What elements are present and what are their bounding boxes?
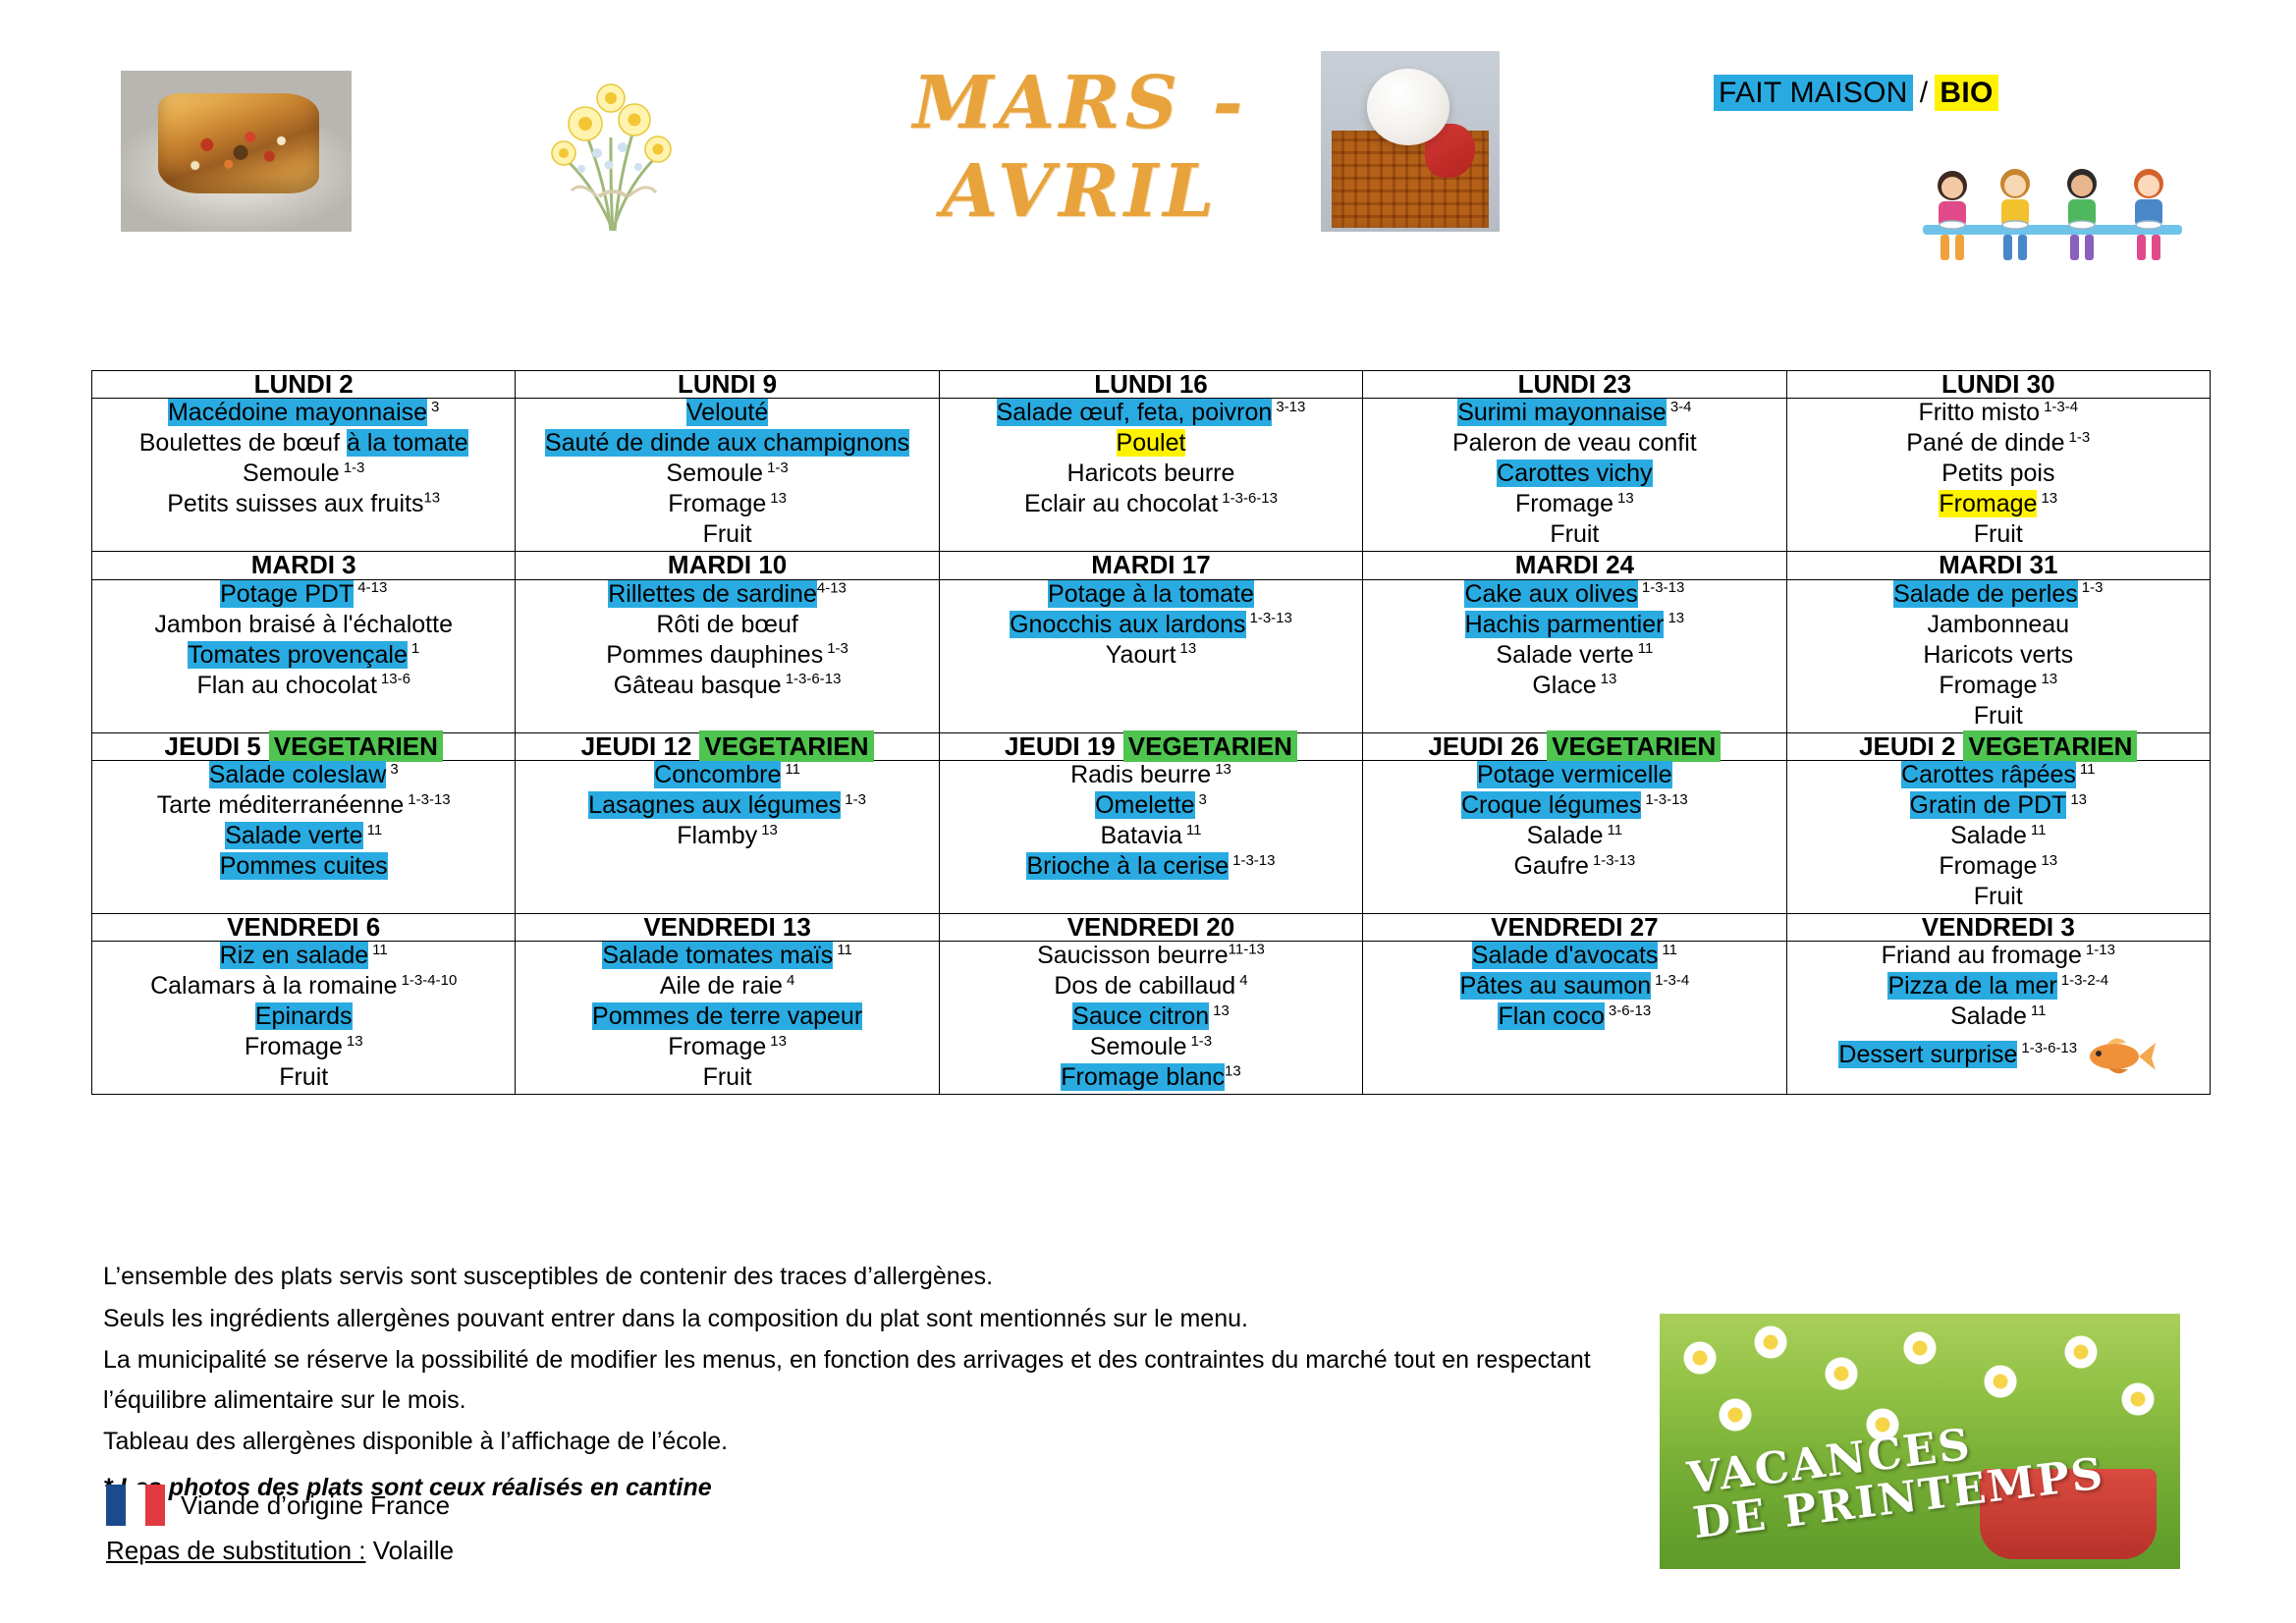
menu-dish: Aile de raie4: [516, 972, 938, 1002]
day-header-cell: LUNDI 23: [1363, 371, 1786, 399]
dish-name: Gâteau basque: [614, 672, 782, 699]
dish-name: Salade: [1950, 1002, 2027, 1030]
menu-dish: Fruit: [1787, 883, 2210, 913]
dish-name: Salade: [1527, 822, 1604, 849]
day-header-cell: MARDI 17: [939, 552, 1362, 579]
day-menu-cell: Salade d'avocats11Pâtes au saumon1-3-4Fl…: [1363, 942, 1786, 1095]
menu-dish: Rillettes de sardine4-13: [516, 580, 938, 611]
allergen-codes: 1-3-6-13: [2021, 1040, 2077, 1056]
dish-name: Saucisson beurre: [1037, 942, 1229, 969]
day-menu-cell: Cake aux olives1-3-13Hachis parmentier13…: [1363, 579, 1786, 732]
menu-dish: Semoule1-3: [92, 460, 515, 490]
menu-dish: Salade coleslaw3: [92, 761, 515, 791]
dish-name: Fromage: [668, 490, 766, 517]
day-header-cell: MARDI 31: [1786, 552, 2210, 579]
day-menu-cell: Riz en salade11Calamars à la romaine1-3-…: [92, 942, 516, 1095]
allergen-codes: 13: [2041, 490, 2057, 507]
day-menu-cell: Potage PDT4-13Jambon braisé à l'échalott…: [92, 579, 516, 732]
gaufre-photo: [1321, 51, 1500, 232]
allergen-codes: 13: [347, 1033, 363, 1050]
dish-name: Flan au chocolat: [196, 672, 376, 699]
legend-badges: FAIT MAISON/BIO: [1714, 77, 1998, 110]
menu-dish: Flan au chocolat13-6: [92, 672, 515, 702]
dish-name: Fromage: [245, 1033, 343, 1060]
allergen-codes: 1-3-13: [1250, 610, 1292, 626]
day-menu-cell: Salade de perles1-3JambonneauHaricots ve…: [1786, 579, 2210, 732]
allergen-codes: 1-3: [827, 640, 848, 657]
dish-name: Potage vermicelle: [1477, 761, 1672, 788]
dish-name: Epinards: [255, 1002, 353, 1030]
dish-name: Semoule: [1090, 1033, 1187, 1060]
menu-dish: Salade tomates maïs11: [516, 942, 938, 972]
menu-dish: Fruit: [1787, 702, 2210, 732]
menu-dish: Radis beurre13: [940, 761, 1362, 791]
dish-name: Pommes cuites: [220, 852, 388, 880]
dish-name: Fromage: [668, 1033, 766, 1060]
dish-name: Pommes dauphines: [606, 641, 823, 669]
day-menu-cell: Potage à la tomateGnocchis aux lardons1-…: [939, 579, 1362, 732]
dish-name: Petits pois: [1941, 460, 2054, 487]
allergen-codes: 13: [770, 490, 787, 507]
dish-name: Fromage: [1515, 490, 1613, 517]
day-header-cell: JEUDI 2VEGETARIEN: [1786, 732, 2210, 760]
allergen-codes: 11: [2031, 1002, 2047, 1019]
dish-name: Dessert surprise: [1838, 1041, 2017, 1068]
allergen-codes: 1-3: [2082, 579, 2104, 596]
day-header-cell: LUNDI 9: [516, 371, 939, 399]
daisy-icon: [2121, 1382, 2155, 1416]
menu-dish: Petits pois: [1787, 460, 2210, 490]
menu-dish: Sauce citron13: [940, 1002, 1362, 1033]
day-menu-cell: Potage vermicelleCroque légumes1-3-13Sal…: [1363, 760, 1786, 913]
dish-name: Pizza de la mer: [1887, 972, 2056, 1000]
allergen-codes: 1-3-13: [1645, 791, 1687, 808]
allergen-codes: 13: [761, 822, 778, 839]
day-label: VENDREDI 20: [1067, 912, 1235, 942]
daisy-icon: [1683, 1341, 1717, 1375]
vegetarien-badge: VEGETARIEN: [1123, 730, 1297, 762]
allergen-codes: 3-4: [1670, 399, 1692, 415]
day-menu-cell: Carottes râpées11Gratin de PDT13Salade11…: [1786, 760, 2210, 913]
dish-name: Salade de perles: [1893, 580, 2078, 608]
menu-dish: Fromage blanc13: [940, 1063, 1362, 1094]
day-header-cell: LUNDI 2: [92, 371, 516, 399]
dish-name: Croque légumes: [1461, 791, 1641, 819]
allergen-codes: 11: [1186, 822, 1202, 839]
day-label: MARDI 17: [1091, 550, 1210, 579]
dish-name: Fromage: [1939, 490, 2037, 517]
menu-dish: Jambon braisé à l'échalotte: [92, 611, 515, 641]
footer-line-1: L’ensemble des plats servis sont suscept…: [103, 1257, 1655, 1297]
allergen-codes: 1-3-13: [408, 791, 450, 808]
menu-dish: Hachis parmentier13: [1363, 611, 1785, 641]
day-label: VENDREDI 3: [1922, 912, 2075, 942]
dish-name: Tarte méditerranéenne: [157, 791, 405, 819]
dish-name: Brioche à la cerise: [1026, 852, 1229, 880]
day-menu-cell: Salade tomates maïs11Aile de raie4Pommes…: [516, 942, 939, 1095]
day-header-cell: VENDREDI 20: [939, 913, 1362, 941]
menu-dish: Poulet: [940, 429, 1362, 460]
daisy-icon: [1903, 1331, 1937, 1365]
allergen-codes: 13: [770, 1033, 787, 1050]
dish-name: Haricots beurre: [1067, 460, 1235, 487]
menu-dish: Yaourt13: [940, 641, 1362, 672]
dish-name: Pané de dinde: [1906, 429, 2064, 457]
dish-name: Dos de cabillaud: [1054, 972, 1235, 1000]
menu-dish: Flamby13: [516, 822, 938, 852]
allergen-codes: 13: [1617, 490, 1634, 507]
menu-dish: Macédoine mayonnaise3: [92, 399, 515, 429]
menu-table: LUNDI 2LUNDI 9LUNDI 16LUNDI 23LUNDI 30Ma…: [91, 370, 2211, 1095]
day-menu-cell: Surimi mayonnaise3-4Paleron de veau conf…: [1363, 399, 1786, 552]
menu-dish: Dos de cabillaud4: [940, 972, 1362, 1002]
menu-dish: Salade verte11: [92, 822, 515, 852]
menu-dish: Pâtes au saumon1-3-4: [1363, 972, 1785, 1002]
dish-name: Flamby: [677, 822, 757, 849]
day-header-cell: LUNDI 16: [939, 371, 1362, 399]
day-header-cell: JEUDI 19VEGETARIEN: [939, 732, 1362, 760]
vegetarien-badge: VEGETARIEN: [699, 730, 873, 762]
allergen-codes: 1-3-13: [1232, 852, 1275, 869]
day-header-cell: VENDREDI 6: [92, 913, 516, 941]
dish-name: Fruit: [703, 1063, 752, 1091]
footer-line-3: La municipalité se réserve la possibilit…: [103, 1340, 1655, 1420]
menu-dish: Fruit: [516, 520, 938, 551]
menu-dish: Pané de dinde1-3: [1787, 429, 2210, 460]
dish-name: Flan coco: [1498, 1002, 1604, 1030]
dish-name: Sauté de dinde aux champignons: [545, 429, 909, 457]
menu-dish: Fruit: [1363, 520, 1785, 551]
allergen-codes: 1-13: [2086, 942, 2115, 958]
allergen-codes: 11: [2080, 761, 2096, 778]
menu-dish: Pizza de la mer1-3-2-4: [1787, 972, 2210, 1002]
menu-dish: Tomates provençale1: [92, 641, 515, 672]
menu-dish: Gâteau basque1-3-6-13: [516, 672, 938, 702]
menu-dish: Brioche à la cerise1-3-13: [940, 852, 1362, 883]
substitution-row: Repas de substitution : Volaille: [106, 1536, 454, 1566]
day-label: LUNDI 9: [678, 369, 777, 399]
menu-dish: Fromage13: [1787, 672, 2210, 702]
dish-name: Salade tomates maïs: [602, 942, 833, 969]
menu-header-row-lundi: LUNDI 2LUNDI 9LUNDI 16LUNDI 23LUNDI 30: [92, 371, 2211, 399]
menu-dish: Salade d'avocats11: [1363, 942, 1785, 972]
menu-dish: Salade verte11: [1363, 641, 1785, 672]
dish-name: Pâtes au saumon: [1460, 972, 1652, 1000]
footer-line-4: Tableau des allergènes disponible à l’af…: [103, 1422, 1655, 1462]
allergen-codes: 11: [2031, 822, 2047, 839]
dish-name: Calamars à la romaine: [150, 972, 398, 1000]
dish-name: Fruit: [279, 1063, 328, 1091]
menu-dish: Carottes vichy: [1363, 460, 1785, 490]
dish-name: Gratin de PDT: [1910, 791, 2067, 819]
goldfish-icon: [2081, 1031, 2158, 1076]
dish-name: Carottes râpées: [1901, 761, 2076, 788]
allergen-codes: 1-3-4-10: [402, 972, 458, 989]
allergen-codes: 4: [1239, 972, 1247, 989]
day-menu-cell: Rillettes de sardine4-13Rôti de bœufPomm…: [516, 579, 939, 732]
allergen-codes: 1-3-6-13: [786, 671, 842, 687]
allergen-codes: 1-3: [2069, 429, 2091, 446]
vegetarien-badge: VEGETARIEN: [269, 730, 443, 762]
menu-dish: Omelette3: [940, 791, 1362, 822]
allergen-codes: 11: [1638, 640, 1654, 657]
allergen-codes: 1-3-2-4: [2061, 972, 2108, 989]
badge-bio: BIO: [1935, 75, 1997, 111]
allergen-codes: 11: [785, 761, 800, 778]
menu-dish: Potage à la tomate: [940, 580, 1362, 611]
menu-body-row-mardi: Potage PDT4-13Jambon braisé à l'échalott…: [92, 579, 2211, 732]
menu-dish: Paleron de veau confit: [1363, 429, 1785, 460]
dish-name: Fromage: [1939, 672, 2037, 699]
allergen-codes: 13: [1601, 671, 1617, 687]
menu-dish: Salade11: [1787, 822, 2210, 852]
dish-name: Fromage blanc: [1061, 1063, 1225, 1091]
menu-dish: Dessert surprise1-3-6-13: [1787, 1033, 2210, 1080]
menu-dish: Potage PDT4-13: [92, 580, 515, 611]
allergen-codes: 13: [2041, 671, 2057, 687]
menu-dish: Petits suisses aux fruits13: [92, 490, 515, 520]
page-header: MARS - AVRIL FAIT MAISON/BIO: [0, 0, 2296, 334]
day-label: JEUDI 12: [581, 731, 692, 761]
menu-dish: Salade de perles1-3: [1787, 580, 2210, 611]
dish-name: Potage PDT: [220, 580, 354, 608]
menu-dish: Concombre11: [516, 761, 938, 791]
dish-name: Salade verte: [1496, 641, 1633, 669]
menu-dish: Pommes de terre vapeur: [516, 1002, 938, 1033]
menu-dish: Fromage13: [1363, 490, 1785, 520]
allergen-codes: 1-3-13: [1593, 852, 1635, 869]
allergen-codes: 11-13: [1229, 942, 1265, 958]
allergen-codes: 1: [411, 640, 419, 657]
day-menu-cell: Fritto misto1-3-4Pané de dinde1-3Petits …: [1786, 399, 2210, 552]
menu-dish: Sauté de dinde aux champignons: [516, 429, 938, 460]
allergen-codes: 11: [372, 942, 388, 958]
menu-dish: Calamars à la romaine1-3-4-10: [92, 972, 515, 1002]
menu-dish: Haricots verts: [1787, 641, 2210, 672]
menu-table-body: LUNDI 2LUNDI 9LUNDI 16LUNDI 23LUNDI 30Ma…: [92, 371, 2211, 1095]
badge-separator: /: [1913, 77, 1936, 109]
menu-dish: Semoule1-3: [940, 1033, 1362, 1063]
menu-dish: Gratin de PDT13: [1787, 791, 2210, 822]
allergen-codes: 3: [431, 399, 439, 415]
day-header-cell: VENDREDI 3: [1786, 913, 2210, 941]
day-menu-cell: Saucisson beurre11-13Dos de cabillaud4Sa…: [939, 942, 1362, 1095]
allergen-codes: 1-3-4: [1655, 972, 1689, 989]
daisy-icon: [1984, 1365, 2017, 1398]
dish-name: Glace: [1532, 672, 1596, 699]
kids-photo: [1905, 152, 2200, 270]
day-header-cell: MARDI 24: [1363, 552, 1786, 579]
day-header-cell: MARDI 10: [516, 552, 939, 579]
allergen-codes: 13: [1215, 761, 1231, 778]
allergen-codes: 1-3: [845, 791, 866, 808]
dish-name: Salade d'avocats: [1472, 942, 1659, 969]
allergen-codes: 3-6-13: [1609, 1002, 1651, 1019]
day-menu-cell: Radis beurre13Omelette3Batavia11Brioche …: [939, 760, 1362, 913]
vegetarien-badge: VEGETARIEN: [1963, 730, 2137, 762]
day-label: VENDREDI 13: [643, 912, 811, 942]
allergen-codes: 11: [367, 822, 383, 839]
menu-dish: Fromage13: [516, 490, 938, 520]
menu-dish: Gaufre1-3-13: [1363, 852, 1785, 883]
dish-name: Pommes de terre vapeur: [592, 1002, 862, 1030]
allergen-codes: 4: [787, 972, 794, 989]
dish-name: Fromage: [1939, 852, 2037, 880]
daisy-icon: [1825, 1357, 1858, 1390]
menu-dish: Potage vermicelle: [1363, 761, 1785, 791]
day-label: VENDREDI 27: [1491, 912, 1659, 942]
origin-legend: Viande d’origine France Repas de substit…: [106, 1485, 454, 1566]
menu-dish: Epinards: [92, 1002, 515, 1033]
ice-scoop-shape: [1367, 69, 1449, 144]
menu-dish: Jambonneau: [1787, 611, 2210, 641]
dish-name: Riz en salade: [220, 942, 368, 969]
daisy-icon: [1719, 1398, 1752, 1432]
flag-legend-row: Viande d’origine France: [106, 1485, 454, 1526]
dish-name: Semoule: [243, 460, 340, 487]
footer-notes: L’ensemble des plats servis sont suscept…: [103, 1257, 1655, 1509]
dish-name: Gnocchis aux lardons: [1010, 611, 1245, 638]
allergen-codes: 4-13: [817, 579, 847, 596]
menu-dish: Fromage13: [92, 1033, 515, 1063]
dish-name: Batavia: [1100, 822, 1181, 849]
menu-dish: Boulettes de bœuf à la tomate: [92, 429, 515, 460]
substitution-value: Volaille: [373, 1536, 454, 1565]
day-header-cell: LUNDI 30: [1786, 371, 2210, 399]
allergen-codes: 1-3-13: [1642, 579, 1684, 596]
lasagne-photo: [121, 71, 352, 232]
day-header-cell: VENDREDI 27: [1363, 913, 1786, 941]
allergen-codes: 13: [423, 490, 440, 507]
menu-dish: Friand au fromage1-13: [1787, 942, 2210, 972]
dish-name: Haricots verts: [1923, 641, 2073, 669]
day-header-cell: JEUDI 12VEGETARIEN: [516, 732, 939, 760]
menu-header-row-vendredi: VENDREDI 6VENDREDI 13VENDREDI 20VENDREDI…: [92, 913, 2211, 941]
french-flag-icon: [106, 1485, 165, 1526]
menu-dish: Glace13: [1363, 672, 1785, 702]
day-header-cell: MARDI 3: [92, 552, 516, 579]
menu-dish: Fruit: [92, 1063, 515, 1094]
menu-dish: Batavia11: [940, 822, 1362, 852]
dish-name: Aile de raie: [660, 972, 783, 1000]
dish-name: Fruit: [703, 520, 752, 548]
dish-name: Semoule: [666, 460, 763, 487]
day-menu-cell: Salade œuf, feta, poivron3-13PouletHaric…: [939, 399, 1362, 552]
dish-name: Macédoine mayonnaise: [168, 399, 427, 426]
page-title: MARS - AVRIL: [845, 59, 1316, 237]
menu-dish: Tarte méditerranéenne1-3-13: [92, 791, 515, 822]
menu-dish: Fritto misto1-3-4: [1787, 399, 2210, 429]
allergen-codes: 3-13: [1276, 399, 1305, 415]
menu-body-row-lundi: Macédoine mayonnaise3Boulettes de bœuf à…: [92, 399, 2211, 552]
substitution-label: Repas de substitution :: [106, 1536, 366, 1565]
day-label: VENDREDI 6: [227, 912, 380, 942]
day-label: JEUDI 26: [1428, 731, 1539, 761]
dish-name: Fruit: [1974, 883, 2023, 910]
allergen-codes: 3: [1199, 791, 1207, 808]
dish-name: Carottes vichy: [1497, 460, 1652, 487]
dish-name: Fritto misto: [1918, 399, 2040, 426]
dish-name: Paleron de veau confit: [1452, 429, 1697, 457]
day-header-cell: JEUDI 5VEGETARIEN: [92, 732, 516, 760]
allergen-codes: 13: [1180, 640, 1197, 657]
menu-dish: Haricots beurre: [940, 460, 1362, 490]
dish-name: Hachis parmentier: [1465, 611, 1665, 638]
dish-name: Jambonneau: [1928, 611, 2070, 638]
menu-dish: Fromage13: [1787, 490, 2210, 520]
allergen-codes: 1-3-4: [2044, 399, 2078, 415]
menu-dish: Velouté: [516, 399, 938, 429]
day-label: MARDI 24: [1515, 550, 1634, 579]
menu-dish: Saucisson beurre11-13: [940, 942, 1362, 972]
allergen-codes: 13: [1667, 610, 1684, 626]
day-label: MARDI 10: [668, 550, 787, 579]
menu-dish: Carottes râpées11: [1787, 761, 2210, 791]
dish-name: Boulettes de bœuf: [139, 429, 347, 457]
flowers-photo: [520, 59, 707, 236]
menu-body-row-vendredi: Riz en salade11Calamars à la romaine1-3-…: [92, 942, 2211, 1095]
day-label: MARDI 3: [251, 550, 356, 579]
menu-dish: Surimi mayonnaise3-4: [1363, 399, 1785, 429]
dish-name-part2: à la tomate: [347, 429, 468, 457]
menu-dish: Pommes dauphines1-3: [516, 641, 938, 672]
menu-dish: Riz en salade11: [92, 942, 515, 972]
menu-dish: Gnocchis aux lardons1-3-13: [940, 611, 1362, 641]
menu-dish: Pommes cuites: [92, 852, 515, 883]
badge-fait-maison: FAIT MAISON: [1714, 75, 1913, 111]
menu-header-row-jeudi: JEUDI 5VEGETARIENJEUDI 12VEGETARIENJEUDI…: [92, 732, 2211, 760]
menu-dish: Semoule1-3: [516, 460, 938, 490]
menu-dish: Salade11: [1787, 1002, 2210, 1033]
dish-name: Gaufre: [1513, 852, 1588, 880]
dish-name: Eclair au chocolat: [1024, 490, 1218, 517]
dish-name: Fruit: [1974, 702, 2023, 730]
dish-name: Lasagnes aux légumes: [588, 791, 841, 819]
dish-name: Salade: [1950, 822, 2027, 849]
dish-name: Rillettes de sardine: [608, 580, 817, 608]
vegetarien-badge: VEGETARIEN: [1547, 730, 1721, 762]
dish-name: Salade œuf, feta, poivron: [997, 399, 1273, 426]
day-header-cell: VENDREDI 13: [516, 913, 939, 941]
dish-name: Salade verte: [225, 822, 362, 849]
day-menu-cell: Friand au fromage1-13Pizza de la mer1-3-…: [1786, 942, 2210, 1095]
dish-name: Cake aux olives: [1464, 580, 1637, 608]
vacances-photo: VACANCES DE PRINTEMPS: [1660, 1314, 2180, 1569]
day-label: JEUDI 5: [165, 731, 261, 761]
day-label: LUNDI 2: [254, 369, 354, 399]
day-menu-cell: Salade coleslaw3Tarte méditerranéenne1-3…: [92, 760, 516, 913]
allergen-codes: 13-6: [381, 671, 410, 687]
menu-dish: Flan coco3-6-13: [1363, 1002, 1785, 1033]
dish-name: Surimi mayonnaise: [1457, 399, 1667, 426]
daisy-icon: [1754, 1325, 1787, 1359]
daisy-icon: [2064, 1335, 2098, 1369]
dish-name: Velouté: [686, 399, 768, 426]
dish-name: Fruit: [1974, 520, 2023, 548]
menu-dish: Cake aux olives1-3-13: [1363, 580, 1785, 611]
dish-name: Fruit: [1550, 520, 1599, 548]
dish-name: Friand au fromage: [1882, 942, 2082, 969]
day-label: JEUDI 2: [1859, 731, 1955, 761]
allergen-codes: 1-3: [1190, 1033, 1212, 1050]
allergen-codes: 11: [1608, 822, 1623, 839]
footer-line-2: Seuls les ingrédients allergènes pouvant…: [103, 1299, 1655, 1339]
menu-dish: Eclair au chocolat1-3-6-13: [940, 490, 1362, 520]
allergen-codes: 11: [837, 942, 852, 958]
allergen-codes: 13: [2041, 852, 2057, 869]
menu-dish: Salade œuf, feta, poivron3-13: [940, 399, 1362, 429]
allergen-codes: 13: [2070, 791, 2087, 808]
